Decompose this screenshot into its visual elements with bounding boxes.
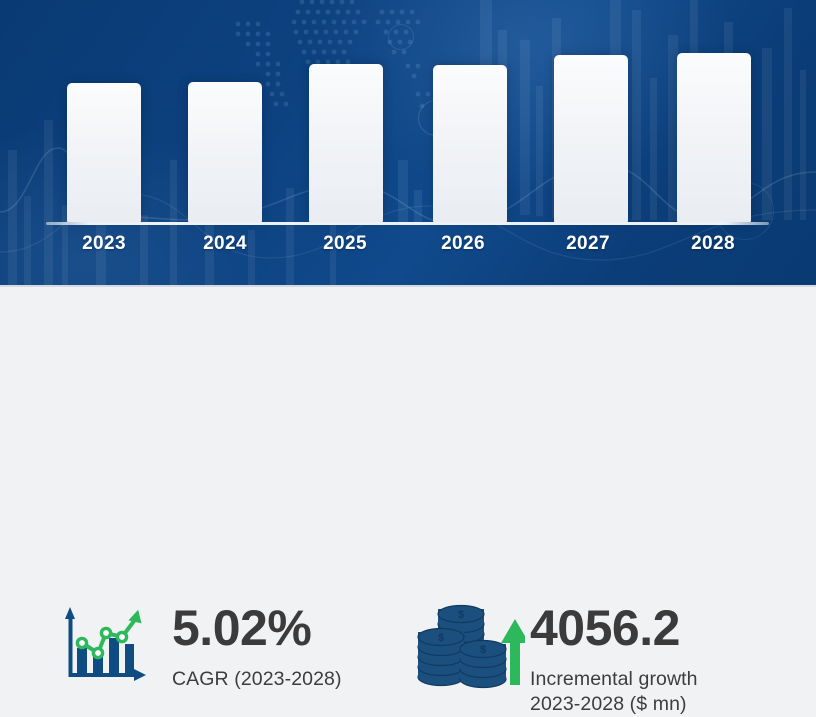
svg-text:$: $ [480, 644, 486, 656]
x-axis-label-2024: 2024 [165, 233, 285, 255]
x-axis-line [46, 222, 769, 225]
svg-text:$: $ [438, 632, 444, 644]
chart-header-band: 2023 2024 2025 2026 2027 2028 [0, 0, 816, 285]
cagr-value: 5.02% [172, 603, 402, 653]
growth-chart-icon [48, 599, 156, 691]
bar-2024 [188, 82, 262, 222]
bar-2023 [67, 83, 141, 222]
cagr-text-block: 5.02% CAGR (2023-2028) [172, 603, 402, 692]
x-axis-label-2026: 2026 [403, 233, 523, 255]
svg-text:$: $ [458, 609, 464, 621]
infographic-root: 2023 2024 2025 2026 2027 2028 [0, 0, 816, 464]
growth-value: 4056.2 [530, 603, 810, 653]
stat-incremental-growth: $ $ $ 4056.2 Incremental growth 2023-202… [410, 287, 816, 464]
stats-panel: 5.02% CAGR (2023-2028) [0, 287, 816, 464]
cagr-caption: CAGR (2023-2028) [172, 667, 402, 692]
bar-2028 [677, 53, 751, 222]
growth-text-block: 4056.2 Incremental growth 2023-2028 ($ m… [530, 603, 810, 717]
x-axis-label-2027: 2027 [528, 233, 648, 255]
stat-cagr: 5.02% CAGR (2023-2028) [0, 287, 410, 464]
growth-caption-line1: Incremental growth [530, 667, 810, 692]
bar-2026 [433, 65, 507, 222]
bar-2025 [309, 64, 383, 222]
bar-2027 [554, 55, 628, 222]
growth-caption-line2: 2023-2028 ($ mn) [530, 692, 810, 717]
decorative-circle-2 [388, 24, 414, 50]
x-axis-label-2028: 2028 [653, 233, 773, 255]
coins-stack-up-arrow-icon: $ $ $ [415, 599, 525, 691]
x-axis-label-2023: 2023 [44, 233, 164, 255]
x-axis-label-2025: 2025 [285, 233, 405, 255]
